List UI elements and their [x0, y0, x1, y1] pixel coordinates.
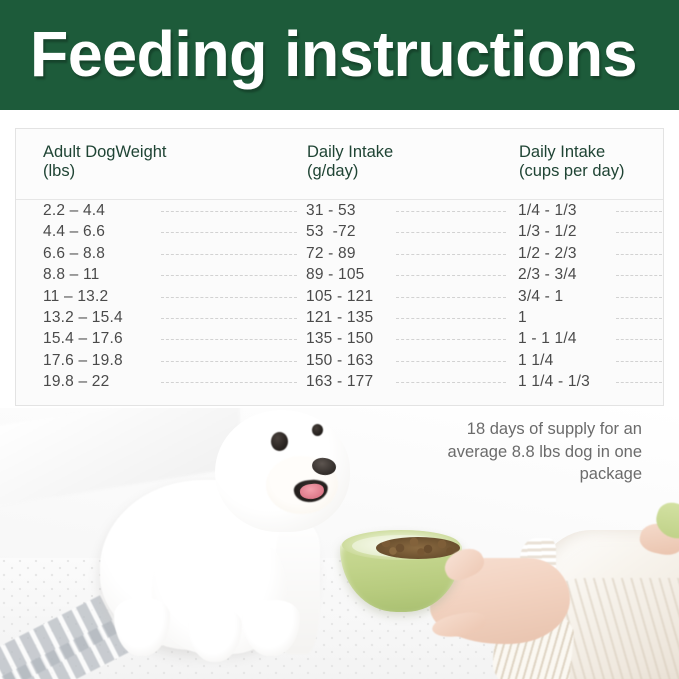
leader-line — [396, 339, 506, 340]
leader-line — [616, 318, 662, 319]
leader-line — [161, 254, 297, 255]
leader-line — [161, 339, 297, 340]
table-row: 8.8 – 11 89 - 105 2/3 - 3/4 — [16, 264, 663, 285]
table-row: 2.2 – 4.4 31 - 53 1/4 - 1/3 — [16, 200, 663, 221]
leader-line — [396, 318, 506, 319]
cell-grams: 121 - 135 — [306, 307, 373, 328]
leader-line — [396, 275, 506, 276]
cell-grams: 105 - 121 — [306, 286, 373, 307]
cell-cups: 1/2 - 2/3 — [518, 243, 577, 264]
page-title: Feeding instructions — [30, 14, 657, 94]
cell-weight: 8.8 – 11 — [43, 264, 99, 285]
table-row: 6.6 – 8.8 72 - 89 1/2 - 2/3 — [16, 243, 663, 264]
header-banner: Feeding instructions — [0, 0, 679, 110]
leader-line — [161, 275, 297, 276]
leader-line — [616, 254, 662, 255]
table-row: 4.4 – 6.6 53 -72 1/3 - 1/2 — [16, 221, 663, 242]
dog-eye — [312, 424, 323, 436]
cell-grams: 150 - 163 — [306, 350, 373, 371]
column-header-cups: Daily Intake (cups per day) — [519, 143, 624, 181]
leader-line — [616, 211, 662, 212]
leader-line — [161, 232, 297, 233]
leader-line — [396, 211, 506, 212]
leader-line — [161, 211, 297, 212]
cell-grams: 89 - 105 — [306, 264, 364, 285]
supply-note: 18 days of supply for an average 8.8 lbs… — [422, 418, 642, 486]
feeding-table: Adult DogWeight (lbs) Daily Intake (g/da… — [15, 128, 664, 406]
cell-weight: 15.4 – 17.6 — [43, 328, 123, 349]
table-header-row: Adult DogWeight (lbs) Daily Intake (g/da… — [16, 129, 663, 200]
leader-line — [161, 361, 297, 362]
dog-kibble — [376, 537, 460, 559]
leader-line — [161, 382, 297, 383]
leader-line — [616, 275, 662, 276]
cell-cups: 3/4 - 1 — [518, 286, 563, 307]
dog-eye — [271, 432, 288, 451]
leader-line — [616, 339, 662, 340]
feeding-instructions-page: Feeding instructions Adult DogWeight (lb… — [0, 0, 679, 679]
table-row: 13.2 – 15.4 121 - 135 1 — [16, 307, 663, 328]
cell-cups: 1 1/4 - 1/3 — [518, 371, 590, 392]
leader-line — [616, 361, 662, 362]
dog-paw — [114, 598, 170, 656]
cell-cups: 1 1/4 — [518, 350, 553, 371]
cell-cups: 1 - 1 1/4 — [518, 328, 577, 349]
cell-weight: 2.2 – 4.4 — [43, 200, 105, 221]
cell-weight: 13.2 – 15.4 — [43, 307, 123, 328]
table-body: 2.2 – 4.4 31 - 53 1/4 - 1/3 4.4 – 6.6 53… — [16, 200, 663, 405]
table-row: 17.6 – 19.8 150 - 163 1 1/4 — [16, 350, 663, 371]
cell-grams: 31 - 53 — [306, 200, 356, 221]
table-row: 15.4 – 17.6 135 - 150 1 - 1 1/4 — [16, 328, 663, 349]
cell-cups: 1/3 - 1/2 — [518, 221, 577, 242]
cell-cups: 1 — [518, 307, 527, 328]
cell-cups: 1/4 - 1/3 — [518, 200, 577, 221]
cell-grams: 135 - 150 — [306, 328, 373, 349]
cell-grams: 72 - 89 — [306, 243, 356, 264]
leader-line — [616, 297, 662, 298]
column-header-grams: Daily Intake (g/day) — [307, 143, 393, 181]
leader-line — [161, 318, 297, 319]
leader-line — [396, 232, 506, 233]
column-header-weight: Adult DogWeight (lbs) — [43, 143, 167, 181]
cell-weight: 19.8 – 22 — [43, 371, 109, 392]
table-row: 11 – 13.2 105 - 121 3/4 - 1 — [16, 286, 663, 307]
cell-weight: 6.6 – 8.8 — [43, 243, 105, 264]
cell-weight: 4.4 – 6.6 — [43, 221, 105, 242]
cell-grams: 163 - 177 — [306, 371, 373, 392]
leader-line — [396, 254, 506, 255]
leader-line — [161, 297, 297, 298]
leader-line — [396, 382, 506, 383]
cell-weight: 11 – 13.2 — [43, 286, 108, 307]
cell-cups: 2/3 - 3/4 — [518, 264, 577, 285]
cell-weight: 17.6 – 19.8 — [43, 350, 123, 371]
leader-line — [396, 361, 506, 362]
leader-line — [396, 297, 506, 298]
leader-line — [616, 382, 662, 383]
table-row: 19.8 – 22 163 - 177 1 1/4 - 1/3 — [16, 371, 663, 392]
cell-grams: 53 -72 — [306, 221, 356, 242]
leader-line — [616, 232, 662, 233]
